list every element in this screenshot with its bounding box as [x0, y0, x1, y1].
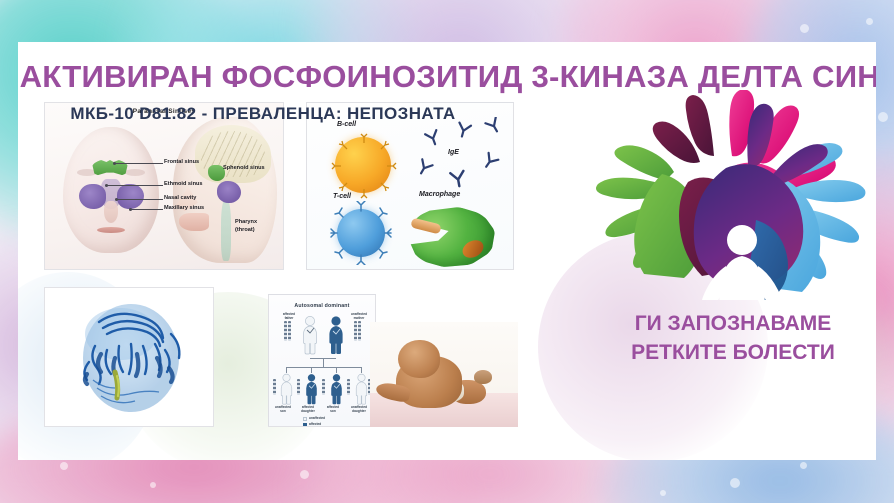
- baby-foot: [474, 370, 492, 384]
- child-figure-affected-1: [304, 373, 319, 405]
- leader-dot: [129, 208, 132, 211]
- child-karyotype: [322, 379, 325, 395]
- tagline: ГИ ЗАПОЗНАВАМЕ РЕТКИТЕ БОЛЕСТИ: [588, 310, 876, 368]
- genetics-diagram-title: Autosomal dominant: [269, 303, 375, 309]
- label-sphenoid-sinus: Sphenoid sinus: [223, 165, 265, 171]
- bokeh-dot: [800, 24, 809, 33]
- leader-dot: [115, 198, 118, 201]
- image-autosomal-dominant-inheritance: Autosomal dominant affecte: [268, 294, 376, 427]
- leader-line: [117, 199, 163, 200]
- image-protein-structure: [44, 287, 214, 427]
- poster-canvas: АКТИВИРАН ФОСФОИНОЗИТИД 3-КИНАЗА ДЕЛТА С…: [0, 0, 894, 503]
- label-pharynx-throat: (throat): [235, 227, 255, 233]
- bokeh-dot: [60, 462, 68, 470]
- bokeh-dot: [300, 470, 309, 479]
- protein-ribbon-illustration: [45, 288, 213, 426]
- legend-label-affected: affected: [309, 422, 321, 426]
- mother-figure-unaffected: [327, 315, 345, 355]
- rare-disease-day-logo: [584, 90, 876, 300]
- mother-karyotype: [358, 321, 361, 341]
- mother-karyotype: [354, 321, 357, 341]
- label-unaffected-daughter: unaffected daughter: [346, 405, 372, 413]
- mouth-front-view: [97, 227, 125, 233]
- image-paranasal-sinuses: Paranasal Sinuses: [44, 102, 284, 270]
- leader-line: [107, 185, 163, 186]
- icd-subtitle: МКБ-10 D81.82 - ПРЕВАЛЕНЦА: НЕПОЗНАТА: [28, 104, 498, 124]
- label-maxillary-sinus: Maxillary sinus: [164, 205, 204, 211]
- child-karyotype: [347, 379, 350, 395]
- leader-dot: [113, 162, 116, 165]
- page-title: АКТИВИРАН ФОСФОИНОЗИТИД 3-КИНАЗА ДЕЛТА С…: [20, 60, 876, 95]
- child-figure-affected-2: [329, 373, 344, 405]
- bokeh-dot: [660, 490, 666, 496]
- label-unaffected-mother: unaffected mother: [345, 312, 373, 320]
- baby-head: [398, 340, 440, 378]
- label-t-cell: T-cell: [333, 193, 351, 200]
- label-nasal-cavity: Nasal cavity: [164, 195, 196, 201]
- image-immune-cells: B-cell: [306, 102, 514, 270]
- father-karyotype: [284, 321, 287, 341]
- content-card: АКТИВИРАН ФОСФОИНОЗИТИД 3-КИНАЗА ДЕЛТА С…: [18, 42, 876, 460]
- legend-swatch-affected: [303, 423, 307, 427]
- bokeh-dot: [878, 112, 888, 122]
- label-affected-father: affected father: [277, 312, 301, 320]
- leader-dot: [105, 184, 108, 187]
- t-cell-receptors-icon: [329, 201, 393, 265]
- child-figure-unaffected-1: [279, 373, 294, 405]
- label-macrophage: Macrophage: [419, 191, 460, 198]
- left-maxillary-sinus-highlight: [79, 184, 106, 209]
- bokeh-dot: [150, 482, 156, 488]
- legend-swatch-unaffected: [303, 417, 307, 421]
- image-infant-photo: [370, 322, 518, 427]
- label-affected-son: affected son: [321, 405, 345, 413]
- child-figure-unaffected-2: [354, 373, 369, 405]
- label-affected-daughter: affected daughter: [296, 405, 320, 413]
- lips-profile: [179, 213, 209, 231]
- pedigree-connector: [323, 358, 324, 367]
- label-unaffected-son: unaffected son: [271, 405, 295, 413]
- nose-front-view: [104, 201, 118, 223]
- pedigree-sibship-line: [286, 367, 361, 368]
- maxillary-sinus-profile-highlight: [217, 181, 241, 203]
- father-karyotype: [288, 321, 291, 341]
- b-cell-receptors-icon: [327, 129, 401, 203]
- right-eye: [125, 169, 145, 176]
- father-figure-affected: [301, 315, 319, 355]
- label-ethmoid-sinus: Ethmoid sinus: [164, 181, 203, 187]
- pharynx-airway: [221, 199, 231, 261]
- leader-line: [115, 163, 163, 164]
- label-frontal-sinus: Frontal sinus: [164, 159, 199, 165]
- ige-antibodies-icon: [415, 117, 507, 195]
- child-karyotype: [297, 379, 300, 395]
- leader-line: [131, 209, 163, 210]
- legend-label-unaffected: unaffected: [309, 416, 325, 420]
- bokeh-dot: [866, 18, 873, 25]
- tagline-line-1: ГИ ЗАПОЗНАВАМЕ: [588, 310, 876, 339]
- child-karyotype: [273, 379, 276, 395]
- tagline-line-2: РЕТКИТЕ БОЛЕСТИ: [588, 339, 876, 368]
- macrophage-illustration: [409, 207, 495, 267]
- label-pharynx: Pharynx: [235, 219, 257, 225]
- bokeh-dot: [730, 478, 740, 488]
- bokeh-dot: [800, 462, 807, 469]
- label-ige: IgE: [448, 149, 459, 156]
